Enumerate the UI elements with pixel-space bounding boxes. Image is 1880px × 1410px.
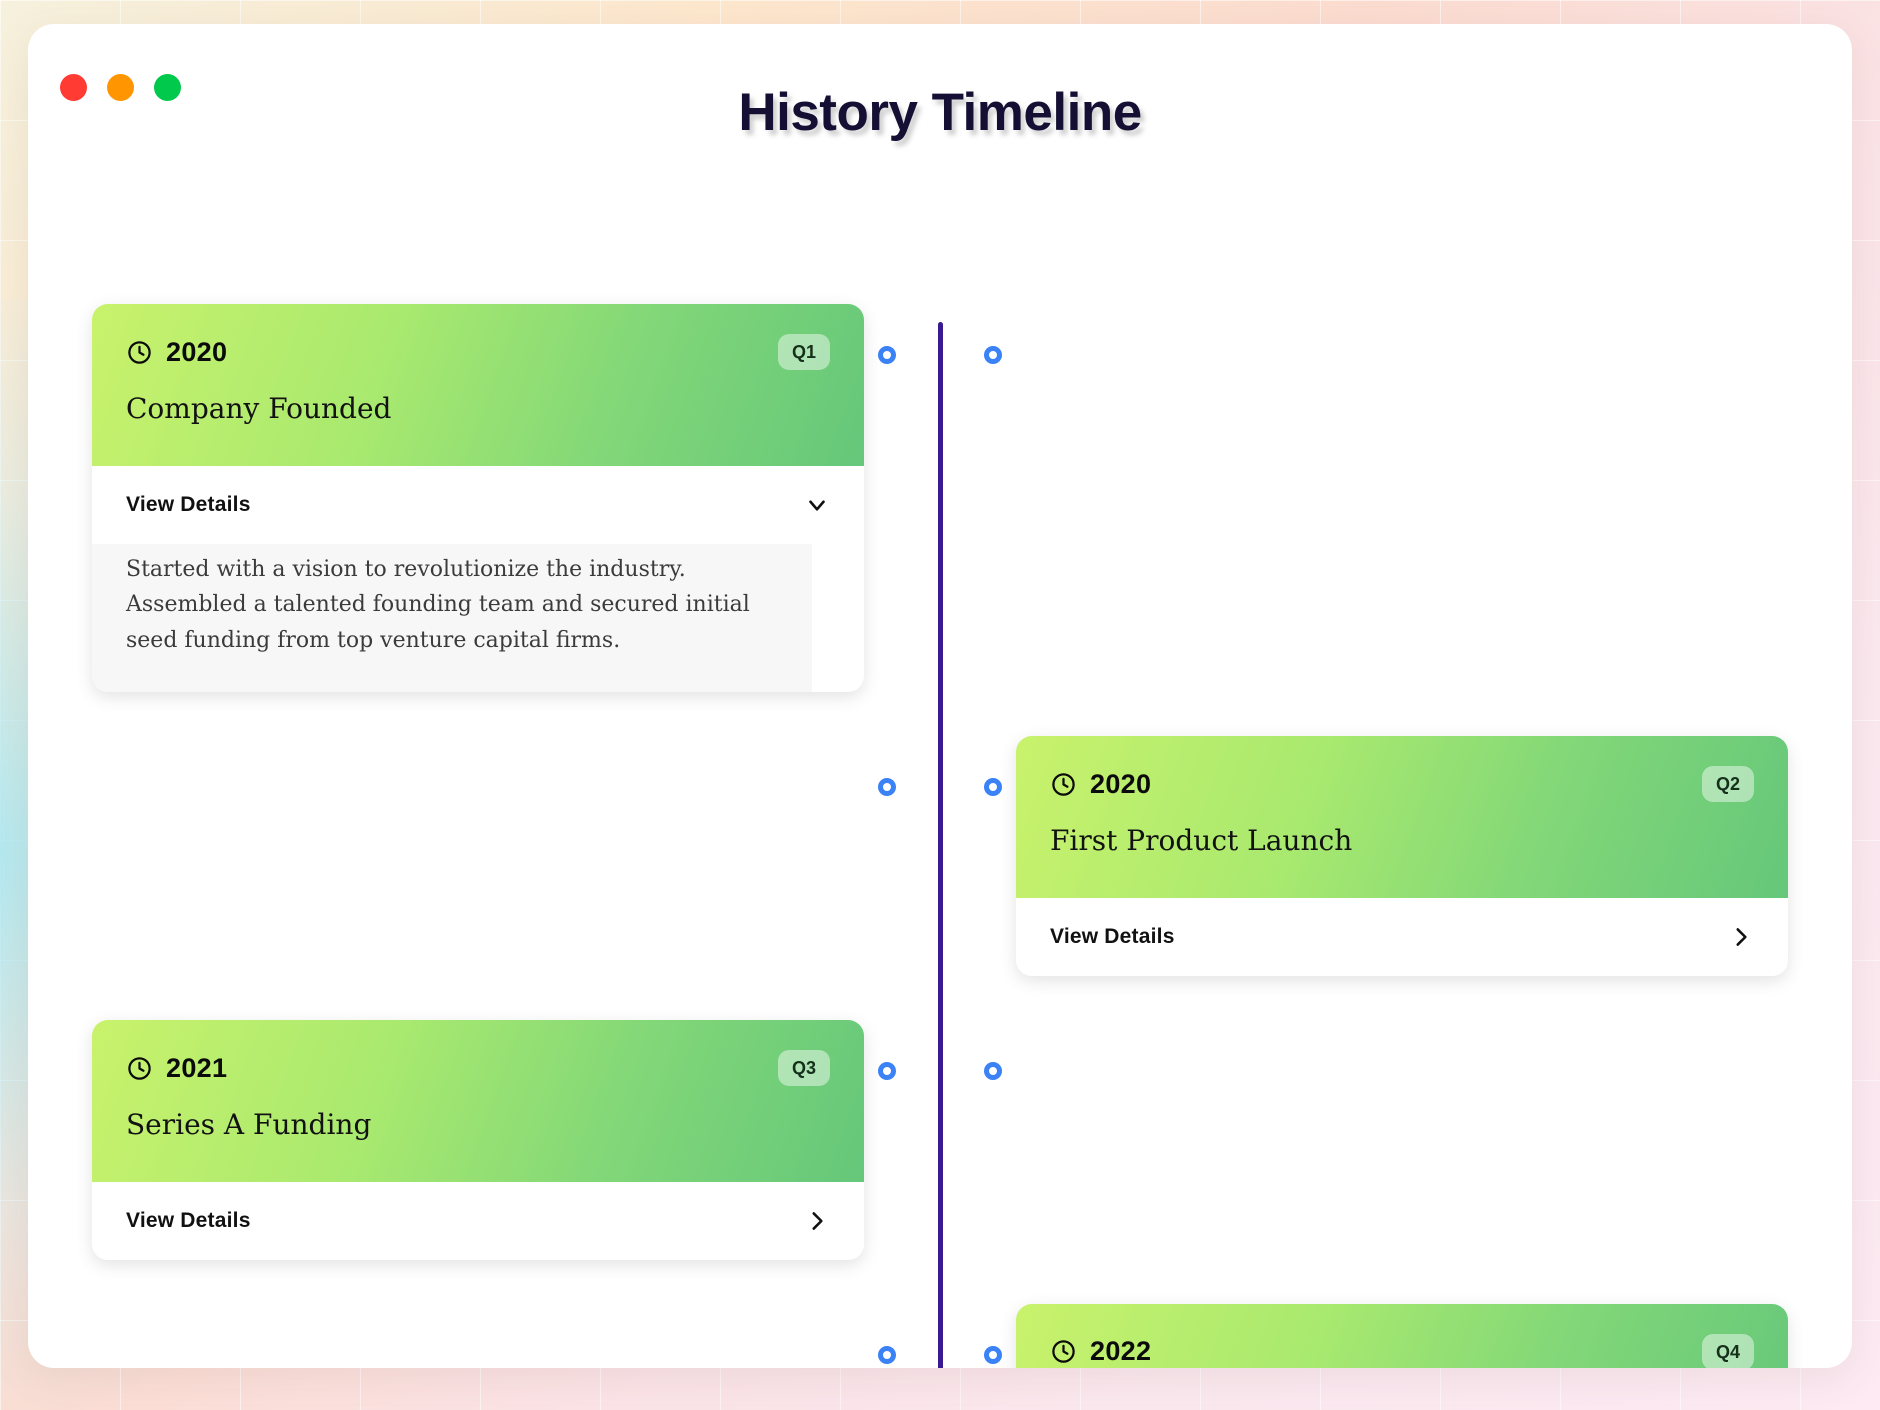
timeline-row: 2021Q3Series A FundingView Details <box>92 1020 1788 1260</box>
card-header-top: 2022Q4 <box>1050 1334 1754 1368</box>
timeline-node-right <box>984 778 1002 796</box>
timeline: 2020Q1Company FoundedView DetailsStarted… <box>92 304 1788 1368</box>
app-window: History Timeline 2020Q1Company FoundedVi… <box>28 24 1852 1368</box>
quarter-badge: Q3 <box>778 1050 830 1086</box>
year-group: 2022 <box>1050 1336 1151 1367</box>
timeline-rows: 2020Q1Company FoundedView DetailsStarted… <box>92 304 1788 1368</box>
timeline-node-right <box>984 1346 1002 1364</box>
view-details-button[interactable]: View Details <box>1016 898 1788 976</box>
timeline-side-right: 2020Q2First Product LaunchView Details <box>1016 736 1788 976</box>
card-header: 2020Q1Company Founded <box>92 304 864 466</box>
quarter-badge: Q2 <box>1702 766 1754 802</box>
view-details-label: View Details <box>126 493 251 517</box>
year-label: 2020 <box>166 337 227 368</box>
view-details-button[interactable]: View Details <box>92 466 864 544</box>
chevron-right-icon[interactable] <box>804 1208 830 1234</box>
card-header-top: 2020Q1 <box>126 334 830 370</box>
clock-icon <box>1050 1338 1077 1365</box>
timeline-node-right <box>984 1062 1002 1080</box>
view-details-label: View Details <box>126 1209 251 1233</box>
event-description: Started with a vision to revolutionize t… <box>92 544 812 693</box>
year-label: 2022 <box>1090 1336 1151 1367</box>
timeline-side-right: 2022Q4Major PartnershipView Details <box>1016 1304 1788 1368</box>
timeline-node-left <box>878 1346 896 1364</box>
card-header: 2020Q2First Product Launch <box>1016 736 1788 898</box>
card-header: 2021Q3Series A Funding <box>92 1020 864 1182</box>
quarter-badge: Q4 <box>1702 1334 1754 1368</box>
timeline-node-left <box>878 778 896 796</box>
timeline-row: 2022Q4Major PartnershipView Details <box>92 1304 1788 1368</box>
view-details-label: View Details <box>1050 925 1175 949</box>
clock-icon <box>126 339 153 366</box>
year-label: 2021 <box>166 1053 227 1084</box>
timeline-row: 2020Q2First Product LaunchView Details <box>92 736 1788 976</box>
card-header-top: 2021Q3 <box>126 1050 830 1086</box>
year-group: 2020 <box>1050 769 1151 800</box>
timeline-node-left <box>878 346 896 364</box>
event-title: First Product Launch <box>1050 824 1754 858</box>
clock-icon <box>1050 771 1077 798</box>
timeline-node-right <box>984 346 1002 364</box>
event-title: Company Founded <box>126 392 830 426</box>
year-group: 2021 <box>126 1053 227 1084</box>
chevron-down-icon[interactable] <box>804 492 830 518</box>
year-group: 2020 <box>126 337 227 368</box>
chevron-right-icon[interactable] <box>1728 924 1754 950</box>
event-title: Series A Funding <box>126 1108 830 1142</box>
card-header-top: 2020Q2 <box>1050 766 1754 802</box>
page-title: History Timeline <box>28 82 1852 143</box>
clock-icon <box>126 1055 153 1082</box>
window-titlebar: History Timeline <box>28 24 1852 152</box>
timeline-node-left <box>878 1062 896 1080</box>
timeline-card-2020-Q1[interactable]: 2020Q1Company FoundedView DetailsStarted… <box>92 304 864 692</box>
timeline-side-left: 2021Q3Series A FundingView Details <box>92 1020 864 1260</box>
timeline-row: 2020Q1Company FoundedView DetailsStarted… <box>92 304 1788 692</box>
year-label: 2020 <box>1090 769 1151 800</box>
timeline-card-2022-Q4[interactable]: 2022Q4Major PartnershipView Details <box>1016 1304 1788 1368</box>
timeline-card-2021-Q3[interactable]: 2021Q3Series A FundingView Details <box>92 1020 864 1260</box>
timeline-card-2020-Q2[interactable]: 2020Q2First Product LaunchView Details <box>1016 736 1788 976</box>
timeline-side-left: 2020Q1Company FoundedView DetailsStarted… <box>92 304 864 692</box>
card-header: 2022Q4Major Partnership <box>1016 1304 1788 1368</box>
quarter-badge: Q1 <box>778 334 830 370</box>
view-details-button[interactable]: View Details <box>92 1182 864 1260</box>
